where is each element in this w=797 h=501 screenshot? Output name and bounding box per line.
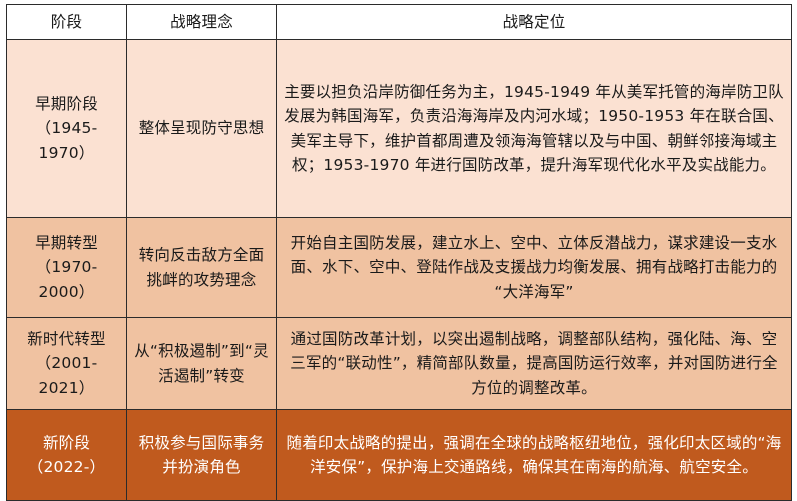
strategy-table: 阶段 战略理念 战略定位 早期阶段（1945-1970） 整体呈现防守思想 主要… (6, 4, 792, 501)
table-header: 阶段 战略理念 战略定位 (7, 5, 792, 40)
strategy-table-container: 阶段 战略理念 战略定位 早期阶段（1945-1970） 整体呈现防守思想 主要… (6, 4, 791, 487)
cell-stage: 早期阶段（1945-1970） (7, 40, 127, 218)
cell-description: 通过国防改革计划，以突出遏制战略，调整部队结构，强化陆、海、空三军的“联动性”，… (277, 318, 792, 410)
table-row: 新时代转型（2001-2021） 从“积极遏制”到“灵活遏制”转变 通过国防改革… (7, 318, 792, 410)
table-body: 早期阶段（1945-1970） 整体呈现防守思想 主要以担负沿岸防御任务为主，1… (7, 40, 792, 501)
cell-concept: 整体呈现防守思想 (127, 40, 277, 218)
column-header-positioning: 战略定位 (277, 5, 792, 40)
table-row: 新阶段（2022-） 积极参与国际事务并扮演角色 随着印太战略的提出，强调在全球… (7, 410, 792, 501)
table-header-row: 阶段 战略理念 战略定位 (7, 5, 792, 40)
cell-concept: 从“积极遏制”到“灵活遏制”转变 (127, 318, 277, 410)
cell-concept: 积极参与国际事务并扮演角色 (127, 410, 277, 501)
cell-concept: 转向反击敌方全面挑衅的攻势理念 (127, 218, 277, 318)
column-header-stage: 阶段 (7, 5, 127, 40)
column-header-concept: 战略理念 (127, 5, 277, 40)
cell-stage: 新时代转型（2001-2021） (7, 318, 127, 410)
cell-description: 随着印太战略的提出，强调在全球的战略枢纽地位，强化印太区域的“海洋安保”，保护海… (277, 410, 792, 501)
table-row: 早期阶段（1945-1970） 整体呈现防守思想 主要以担负沿岸防御任务为主，1… (7, 40, 792, 218)
cell-stage: 新阶段（2022-） (7, 410, 127, 501)
table-row: 早期转型（1970-2000） 转向反击敌方全面挑衅的攻势理念 开始自主国防发展… (7, 218, 792, 318)
cell-description: 开始自主国防发展，建立水上、空中、立体反潜战力，谋求建设一支水面、水下、空中、登… (277, 218, 792, 318)
cell-stage: 早期转型（1970-2000） (7, 218, 127, 318)
cell-description: 主要以担负沿岸防御任务为主，1945-1949 年从美军托管的海岸防卫队发展为韩… (277, 40, 792, 218)
